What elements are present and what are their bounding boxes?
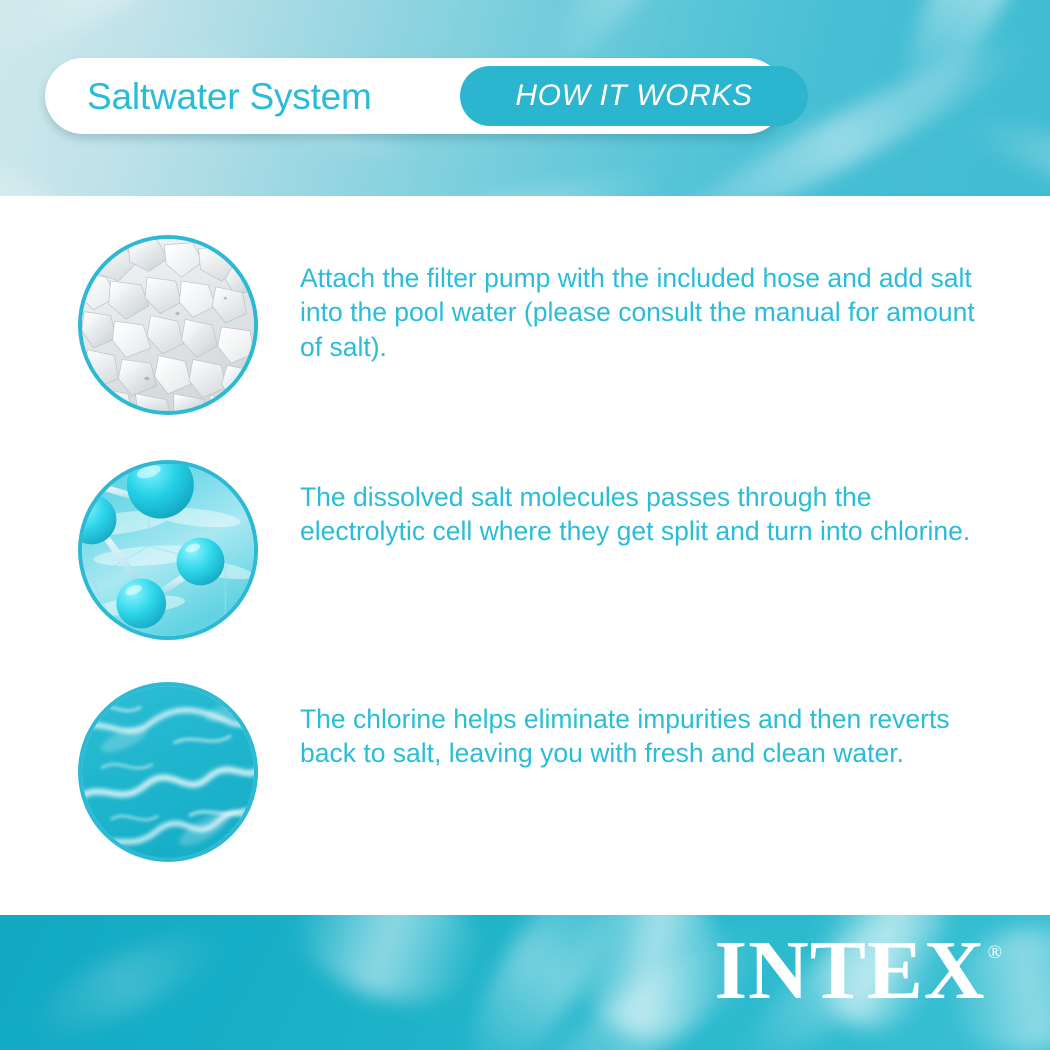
how-it-works-badge: HOW IT WORKS: [460, 66, 808, 126]
salt-molecule-icon: [78, 460, 258, 640]
step-item: Attach the filter pump with the included…: [0, 235, 1050, 415]
step-description: Attach the filter pump with the included…: [300, 261, 990, 364]
step-description: The dissolved salt molecules passes thro…: [300, 480, 990, 549]
clean-pool-water-icon: [78, 682, 258, 862]
step-item: The dissolved salt molecules passes thro…: [0, 460, 1050, 640]
salt-crystals-icon: [78, 235, 258, 415]
title-pill: Saltwater System HOW IT WORKS: [45, 58, 785, 134]
footer-water-banner: INTEX ®: [0, 915, 1050, 1050]
registered-trademark-icon: ®: [988, 943, 1002, 962]
page-title: Saltwater System: [87, 78, 372, 115]
step-item: The chlorine helps eliminate impurities …: [0, 682, 1050, 862]
step-description: The chlorine helps eliminate impurities …: [300, 702, 990, 771]
intex-logo: INTEX ®: [714, 929, 1002, 1013]
how-it-works-badge-label: HOW IT WORKS: [515, 79, 752, 113]
saltwater-system-infographic: Saltwater System HOW IT WORKS: [0, 0, 1050, 1050]
steps-section: Attach the filter pump with the included…: [0, 196, 1050, 915]
intex-logo-wordmark: INTEX: [714, 929, 985, 1013]
